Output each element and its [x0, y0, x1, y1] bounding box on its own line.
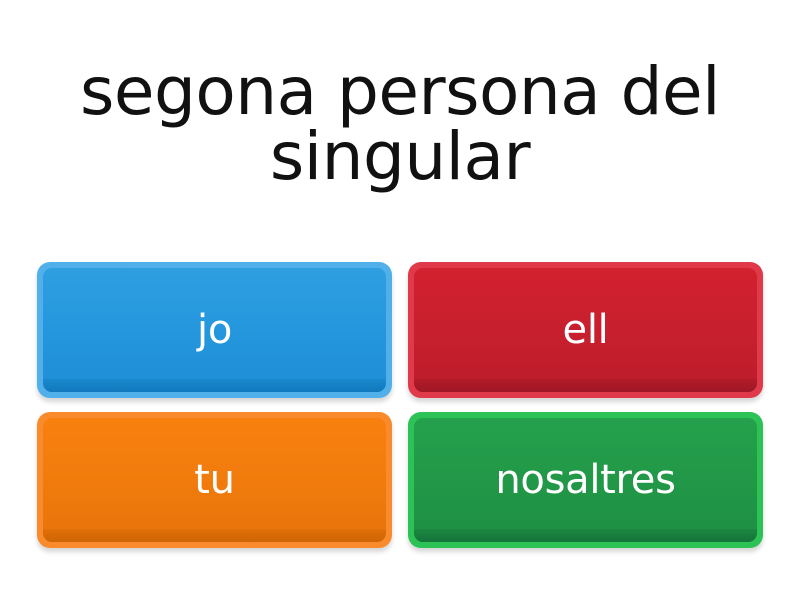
answer-option-label: ell — [553, 310, 619, 350]
quiz-screen: segona persona del singular jo ell tu no… — [0, 0, 800, 600]
answer-option-face: jo — [43, 268, 386, 392]
answer-options-grid: jo ell tu nosaltres — [0, 250, 800, 600]
answer-option-label: nosaltres — [485, 460, 685, 500]
answer-option-face: tu — [43, 418, 386, 542]
answer-option-face: nosaltres — [414, 418, 757, 542]
question-area: segona persona del singular — [0, 0, 800, 250]
answer-option-ell[interactable]: ell — [408, 262, 763, 398]
answer-option-label: jo — [187, 310, 242, 350]
answer-option-nosaltres[interactable]: nosaltres — [408, 412, 763, 548]
answer-option-label: tu — [184, 460, 244, 500]
answer-option-tu[interactable]: tu — [37, 412, 392, 548]
answer-option-face: ell — [414, 268, 757, 392]
question-text: segona persona del singular — [20, 60, 780, 189]
answer-option-jo[interactable]: jo — [37, 262, 392, 398]
